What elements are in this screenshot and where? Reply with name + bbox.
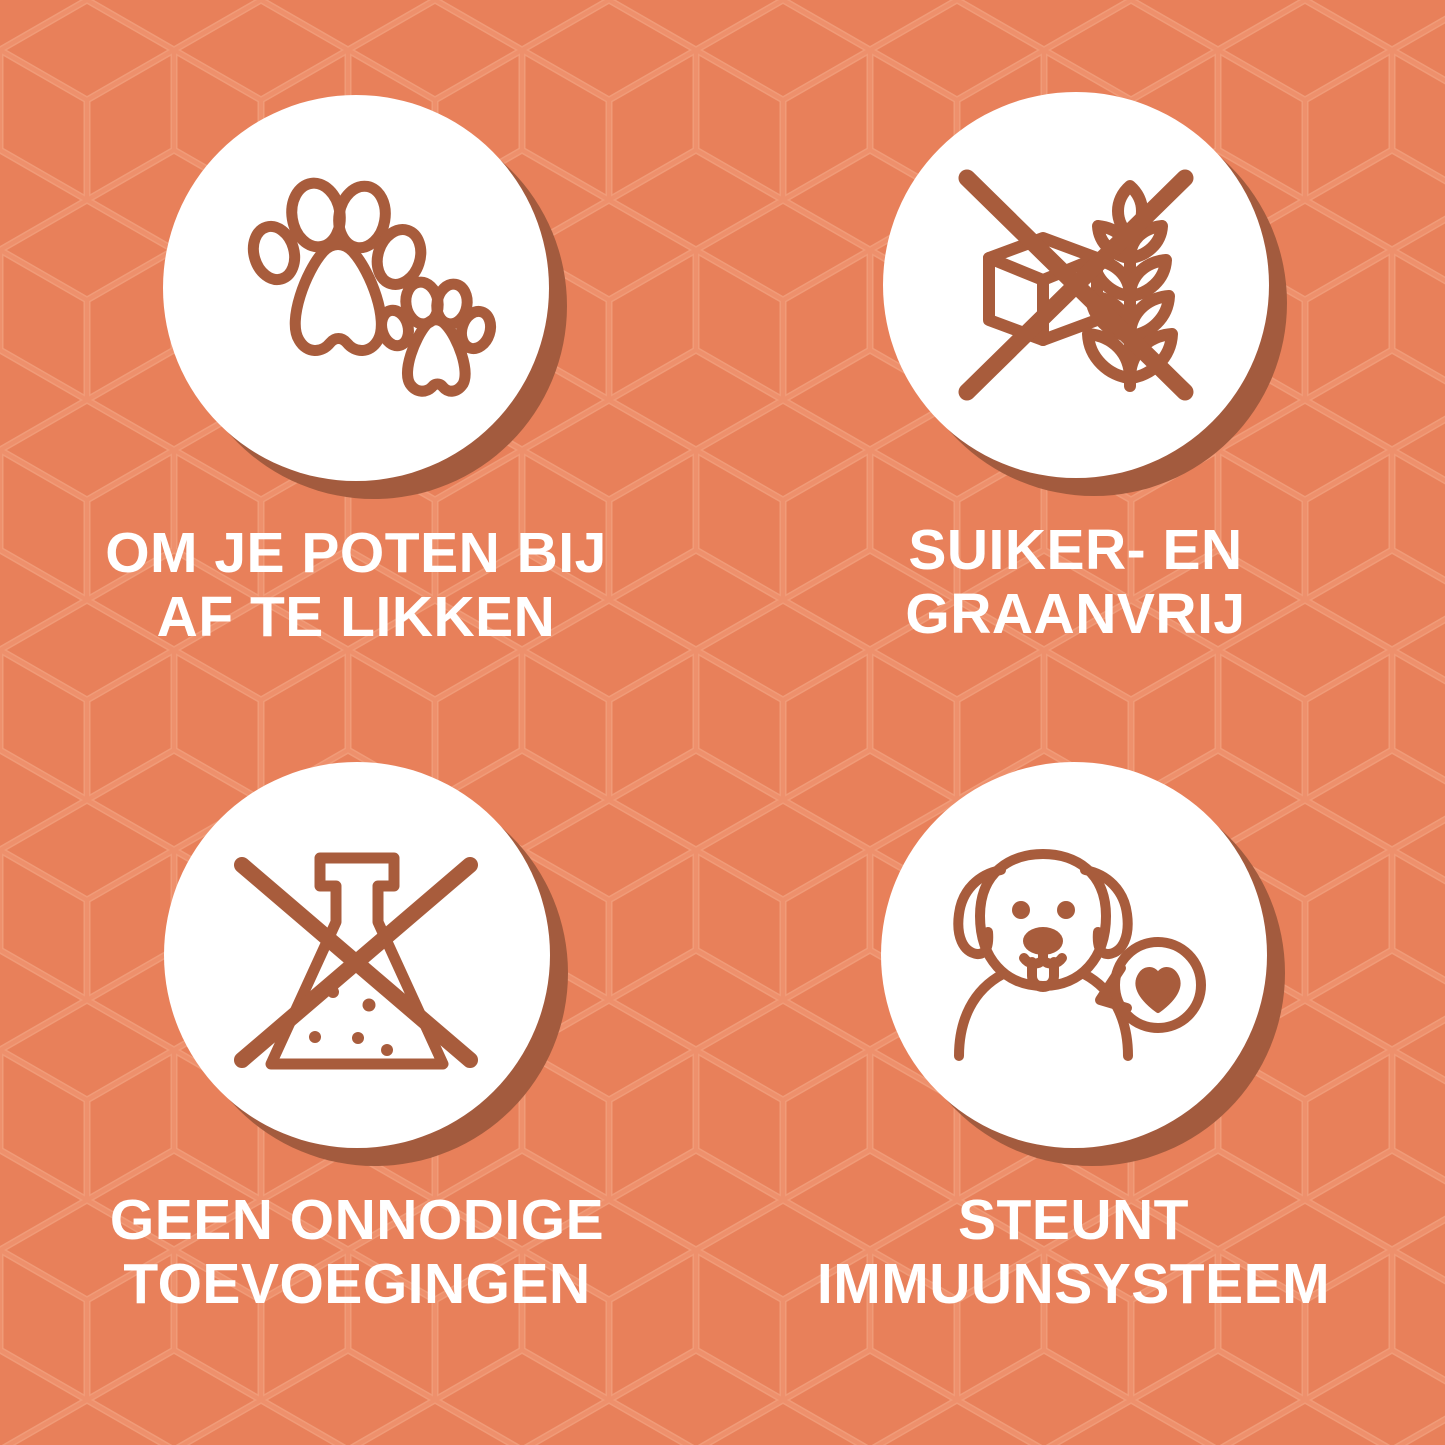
badge-paw-prints	[146, 78, 566, 498]
no-additives-flask-icon	[217, 810, 497, 1100]
dog-nose	[1023, 927, 1063, 955]
badge-disc	[881, 762, 1267, 1148]
label-line-1: GEEN ONNODIGE	[16, 1189, 698, 1253]
feature-item-paw-prints: OM JE POTEN BIJ AF TE LIKKEN	[0, 0, 722, 722]
no-sugar-no-grain-icon	[931, 140, 1221, 430]
dog-eyes	[1012, 901, 1075, 919]
label-line-1: STEUNT	[732, 1189, 1415, 1253]
badge-no-additives	[147, 745, 567, 1165]
feature-label-no-additives: GEEN ONNODIGE TOEVOEGINGEN	[0, 1189, 718, 1317]
feature-label-sugar-grain-free: SUIKER- EN GRAANVRIJ	[714, 519, 1437, 647]
badge-disc	[164, 762, 550, 1148]
feature-grid: OM JE POTEN BIJ AF TE LIKKEN	[0, 0, 1445, 1445]
badge-sugar-grain-free	[866, 75, 1286, 495]
label-line-2: GRAANVRIJ	[734, 583, 1417, 647]
badge-disc	[163, 95, 549, 481]
badge-immune-support	[864, 745, 1284, 1165]
label-line-2: IMMUUNSYSTEEM	[732, 1253, 1415, 1317]
feature-item-sugar-grain-free: SUIKER- EN GRAANVRIJ	[722, 0, 1445, 722]
feature-item-no-additives: GEEN ONNODIGE TOEVOEGINGEN	[0, 722, 722, 1445]
feature-item-immune-support: STEUNT IMMUUNSYSTEEM	[722, 722, 1445, 1445]
paw-prints-icon	[211, 163, 501, 413]
label-line-2: TOEVOEGINGEN	[16, 1253, 698, 1317]
label-line-1: OM JE POTEN BIJ	[15, 522, 697, 586]
heart-icon	[1138, 970, 1177, 1010]
label-line-1: SUIKER- EN	[734, 519, 1417, 583]
label-line-2: AF TE LIKKEN	[15, 586, 697, 650]
feature-label-immune-support: STEUNT IMMUUNSYSTEEM	[712, 1189, 1435, 1317]
feature-label-paw-prints: OM JE POTEN BIJ AF TE LIKKEN	[0, 522, 717, 650]
badge-disc	[883, 92, 1269, 478]
happy-dog-heart-icon	[929, 840, 1219, 1070]
